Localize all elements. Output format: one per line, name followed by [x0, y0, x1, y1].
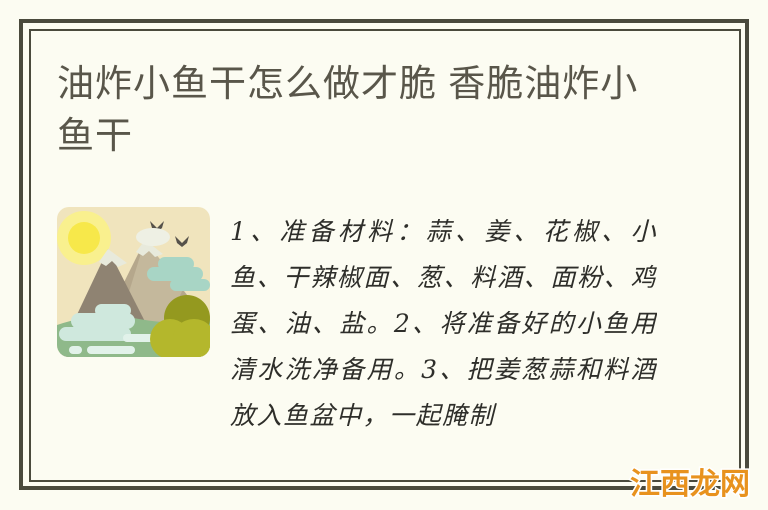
article-body: 1、准备材料：蒜、姜、花椒、小鱼、干辣椒面、葱、料酒、面粉、鸡蛋、油、盐。2、将… [230, 209, 657, 457]
content-row: 1、准备材料：蒜、姜、花椒、小鱼、干辣椒面、葱、料酒、面粉、鸡蛋、油、盐。2、将… [57, 207, 657, 457]
watermark: 江西龙网 [630, 468, 750, 502]
article-card: 油炸小鱼干怎么做才脆 香脆油炸小鱼干 [0, 0, 768, 510]
cloud-white [136, 228, 170, 246]
sun-core [68, 222, 100, 254]
thumbnail-image [57, 207, 210, 357]
landscape-illustration [57, 207, 210, 357]
page-title: 油炸小鱼干怎么做才脆 香脆油炸小鱼干 [57, 58, 667, 162]
bush-base [161, 337, 210, 357]
